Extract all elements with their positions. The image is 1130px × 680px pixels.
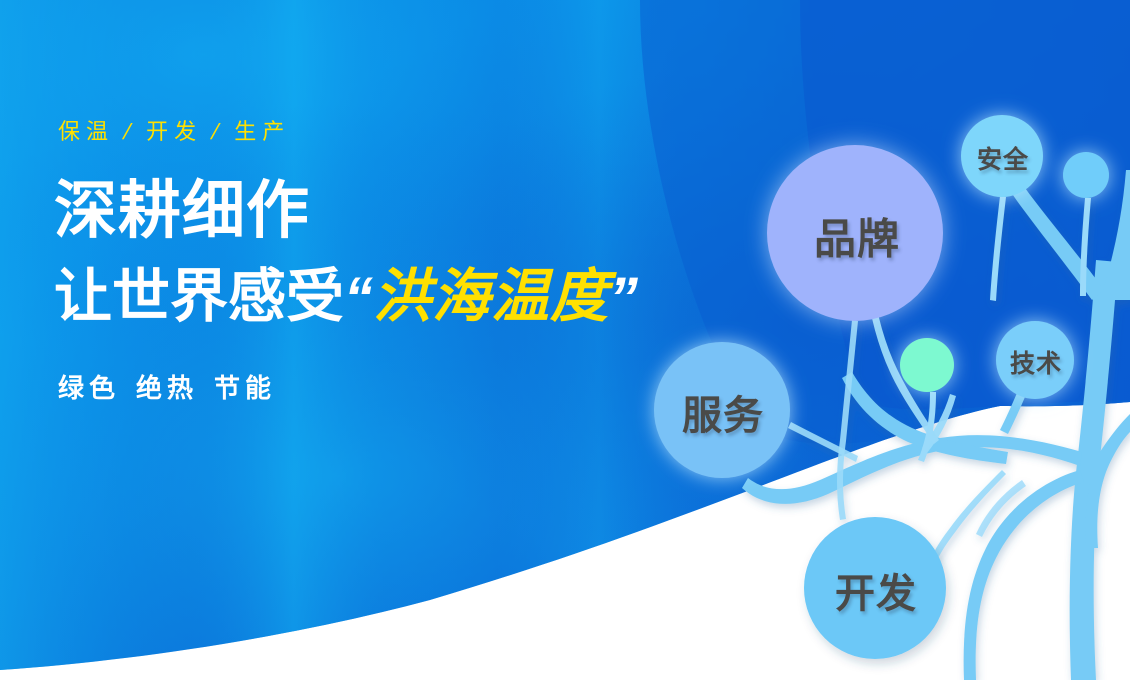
bubble-mint[interactable] [900,338,954,392]
banner-graphics [0,0,1130,680]
bubble-label-pinpai[interactable]: 品牌 [814,206,900,267]
headline-accent: 洪海温度 [373,264,609,329]
bubble-label-anquan[interactable]: 安全 [977,140,1029,176]
subline-item-2: 绝热 [136,373,198,403]
eyebrow-item-1: 保温 [58,119,114,144]
subline-item-1: 绿色 [58,373,120,403]
eyebrow-separator-1: / [110,119,150,145]
subline-keywords: 绿色绝热节能 [58,368,276,405]
bubble-plain-small[interactable] [1063,152,1109,198]
eyebrow-item-2: 开发 [146,119,202,144]
quote-open: “ [344,266,373,331]
quote-close: ” [609,266,638,331]
eyebrow-separator-2: / [198,119,238,145]
subline-item-3: 节能 [214,373,276,403]
headline-line-1: 深耕细作 [54,180,310,243]
eyebrow-tagline: 保温/开发/生产 [58,114,290,146]
headline-line-2: 让世界感受“洪海温度” [54,268,638,328]
hero-banner: 保温/开发/生产 深耕细作 让世界感受“洪海温度” 绿色绝热节能 品牌 安全 技… [0,0,1130,680]
headline-prefix: 让世界感受 [54,264,344,329]
eyebrow-item-3: 生产 [234,119,290,144]
bubble-label-jishu[interactable]: 技术 [1010,344,1062,380]
bubble-label-kaifa[interactable]: 开发 [835,561,917,619]
bubble-label-fuwu[interactable]: 服务 [682,383,764,441]
